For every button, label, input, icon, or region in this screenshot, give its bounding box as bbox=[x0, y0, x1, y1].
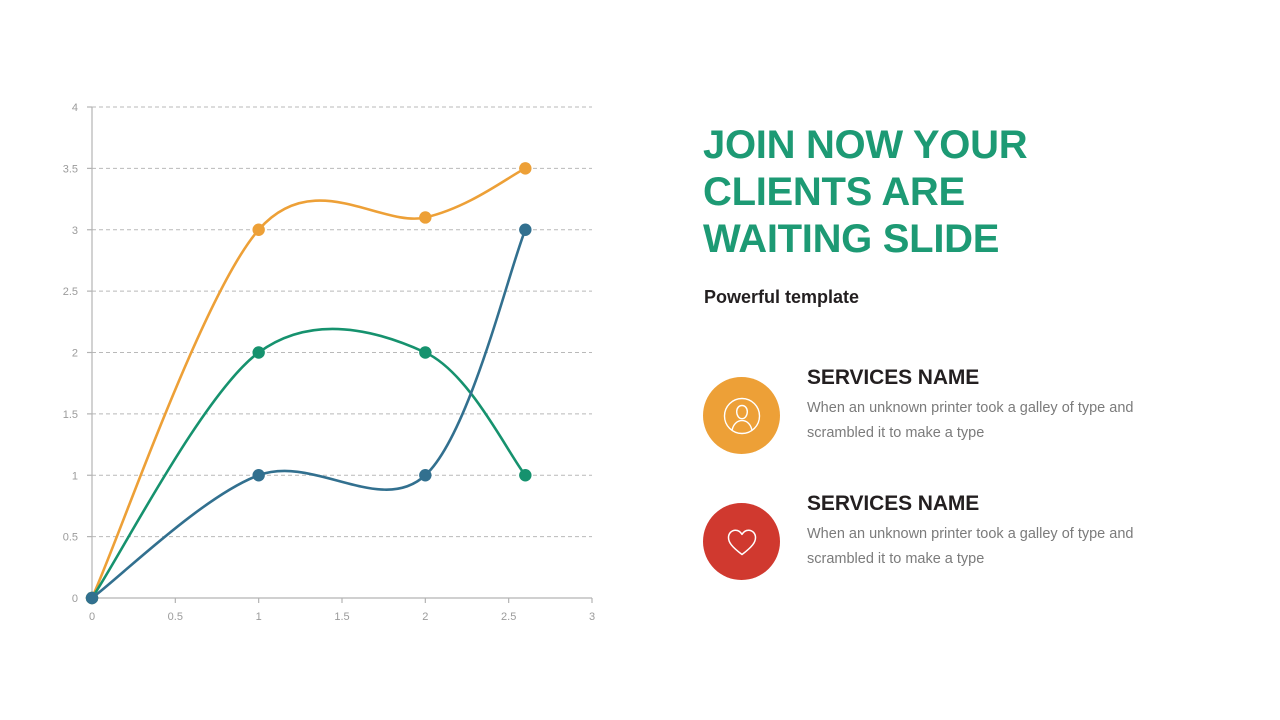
data-point-marker bbox=[86, 592, 98, 604]
content-panel: JOIN NOW YOUR CLIENTS ARE WAITING SLIDE … bbox=[703, 0, 1243, 720]
y-tick-label: 0.5 bbox=[63, 532, 78, 544]
person-icon-badge bbox=[703, 377, 780, 454]
data-point-marker bbox=[519, 162, 531, 174]
y-tick-label: 3 bbox=[72, 225, 78, 237]
service-title: SERVICES NAME bbox=[807, 366, 1193, 390]
heart-icon bbox=[720, 520, 764, 564]
data-point-marker bbox=[419, 469, 431, 481]
data-point-marker bbox=[252, 469, 264, 481]
y-tick-label: 3.5 bbox=[63, 163, 78, 175]
x-tick-label: 2 bbox=[422, 611, 428, 623]
data-point-marker bbox=[252, 224, 264, 236]
y-tick-label: 4 bbox=[72, 102, 78, 114]
x-tick-label: 0.5 bbox=[168, 611, 183, 623]
page-title: JOIN NOW YOUR CLIENTS ARE WAITING SLIDE bbox=[703, 122, 1103, 263]
x-axis-ticks bbox=[92, 598, 592, 603]
chart-gridlines bbox=[87, 107, 592, 598]
x-tick-label: 3 bbox=[589, 611, 595, 623]
y-tick-label: 1 bbox=[72, 470, 78, 482]
y-tick-label: 2 bbox=[72, 348, 78, 360]
data-point-marker bbox=[419, 346, 431, 358]
y-tick-label: 0 bbox=[72, 593, 78, 605]
data-point-marker bbox=[252, 346, 264, 358]
x-tick-label: 0 bbox=[89, 611, 95, 623]
chart-axes bbox=[92, 107, 592, 598]
chart-marker-layer bbox=[86, 162, 532, 604]
y-tick-label: 1.5 bbox=[63, 409, 78, 421]
y-tick-label: 2.5 bbox=[63, 286, 78, 298]
line-chart: 00.511.522.533.54 00.511.522.53 bbox=[0, 0, 660, 720]
service-text-1: SERVICES NAME When an unknown printer to… bbox=[807, 492, 1193, 572]
page-subtitle: Powerful template bbox=[704, 287, 859, 308]
service-text-0: SERVICES NAME When an unknown printer to… bbox=[807, 366, 1193, 446]
series-line bbox=[92, 329, 525, 598]
chart-series-layer bbox=[92, 168, 525, 598]
service-item-0: SERVICES NAME When an unknown printer to… bbox=[703, 377, 1193, 467]
y-axis-tick-labels: 00.511.522.533.54 bbox=[63, 102, 78, 605]
service-title: SERVICES NAME bbox=[807, 492, 1193, 516]
heart-icon-badge bbox=[703, 503, 780, 580]
x-tick-label: 1.5 bbox=[334, 611, 349, 623]
series-line bbox=[92, 168, 525, 598]
x-axis-tick-labels: 00.511.522.53 bbox=[89, 611, 595, 623]
service-item-1: SERVICES NAME When an unknown printer to… bbox=[703, 503, 1193, 593]
line-chart-panel: 00.511.522.533.54 00.511.522.53 bbox=[0, 0, 660, 720]
data-point-marker bbox=[419, 211, 431, 223]
data-point-marker bbox=[519, 224, 531, 236]
service-description: When an unknown printer took a galley of… bbox=[807, 522, 1193, 572]
data-point-marker bbox=[519, 469, 531, 481]
service-description: When an unknown printer took a galley of… bbox=[807, 396, 1193, 446]
person-icon bbox=[720, 394, 764, 438]
x-tick-label: 2.5 bbox=[501, 611, 516, 623]
x-tick-label: 1 bbox=[256, 611, 262, 623]
